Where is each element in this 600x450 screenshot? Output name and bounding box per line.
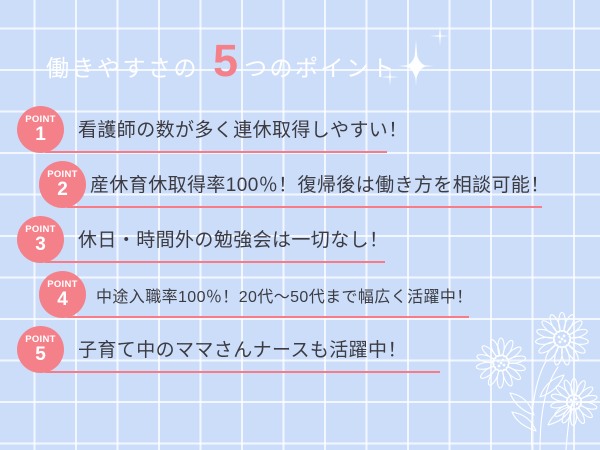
list-item: POINT 4 中途入職率100％！20代〜50代まで幅広く活躍中！	[0, 271, 600, 326]
point-text-4: 中途入職率100％！20代〜50代まで幅広く活躍中！	[96, 283, 473, 307]
badge-number: 3	[35, 235, 46, 254]
daisy-flower	[550, 379, 597, 426]
badge-number: 1	[35, 125, 46, 144]
point-underline-2	[67, 206, 542, 208]
page-title: 働きやすさの 5 つのポイント	[46, 38, 397, 83]
sparkle-icon	[430, 35, 450, 37]
point-underline-3	[45, 261, 385, 263]
sparkle-icon	[439, 26, 441, 46]
point-underline-1	[45, 151, 387, 153]
badge-number: 5	[35, 345, 46, 364]
point-badge-4: POINT 4	[39, 271, 86, 318]
badge-label: POINT	[47, 280, 78, 290]
point-underline-4	[67, 316, 469, 318]
point-text-2: 産休育休取得率100％！復帰後は働き方を相談可能！	[90, 170, 550, 197]
badge-number: 4	[57, 290, 68, 309]
sparkle-icon	[414, 40, 417, 86]
badge-label: POINT	[25, 225, 56, 235]
list-item: POINT 1 看護師の数が多く連休取得しやすい！	[0, 106, 600, 161]
point-badge-5: POINT 5	[17, 326, 64, 373]
points-list: POINT 1 看護師の数が多く連休取得しやすい！ POINT 2 産休育休取得…	[0, 106, 600, 381]
point-text-5: 子育て中のママさんナースも活躍中！	[78, 335, 407, 362]
title-number: 5	[213, 38, 238, 83]
badge-number: 2	[57, 180, 68, 199]
point-underline-5	[45, 371, 440, 373]
badge-label: POINT	[25, 335, 56, 345]
badge-label: POINT	[47, 170, 78, 180]
point-text-1: 看護師の数が多く連休取得しやすい！	[78, 115, 408, 142]
title-lead: 働きやすさの	[46, 49, 199, 83]
list-item: POINT 3 休日・時間外の勉強会は一切なし！	[0, 216, 600, 271]
sparkle-icon	[398, 65, 434, 68]
badge-label: POINT	[25, 115, 56, 125]
list-item: POINT 5 子育て中のママさんナースも活躍中！	[0, 326, 600, 381]
sparkle-icon	[406, 52, 426, 80]
point-badge-1: POINT 1	[17, 106, 64, 153]
title-trail: つのポイント	[244, 49, 397, 83]
point-badge-2: POINT 2	[39, 161, 86, 208]
slide-canvas: 働きやすさの 5 つのポイント POINT 1 看護師の数が多く連休取得しやすい…	[0, 0, 600, 450]
list-item: POINT 2 産休育休取得率100％！復帰後は働き方を相談可能！	[0, 161, 600, 216]
point-text-3: 休日・時間外の勉強会は一切なし！	[78, 225, 388, 252]
point-badge-3: POINT 3	[17, 216, 64, 263]
